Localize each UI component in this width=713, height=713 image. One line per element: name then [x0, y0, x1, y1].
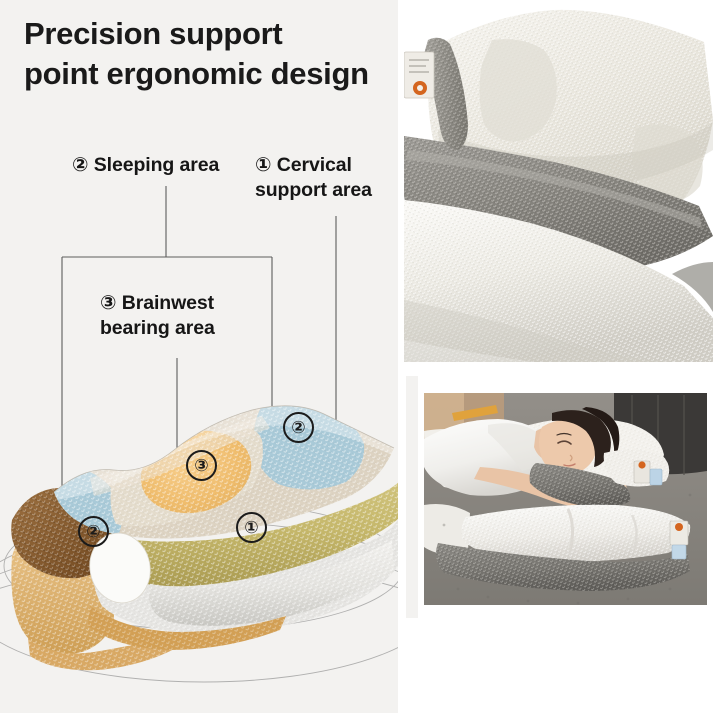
infographic-root: Precision support point ergonomic design… — [0, 0, 713, 713]
pillow-diagram — [0, 370, 404, 700]
product-tag-lower — [670, 521, 688, 559]
label-cervical-support-area: ① Cervical support area — [255, 153, 404, 204]
marker-zone-1: ① — [236, 512, 267, 543]
marker-zone-3: ③ — [186, 450, 217, 481]
product-tag — [404, 52, 434, 98]
label-sleeping-area: ② Sleeping area — [72, 153, 219, 178]
product-photo-pillow-stack — [404, 0, 713, 362]
lifestyle-photo-woman-sleeping — [418, 375, 713, 618]
photo-gap — [404, 362, 713, 376]
marker-zone-2-left: ② — [78, 516, 109, 547]
diagram-panel: Precision support point ergonomic design… — [0, 0, 404, 713]
photo-bottom-fill — [404, 618, 713, 713]
marker-zone-2-right: ② — [283, 412, 314, 443]
label-brainwest-bearing-area: ③ Brainwest bearing area — [100, 291, 280, 342]
